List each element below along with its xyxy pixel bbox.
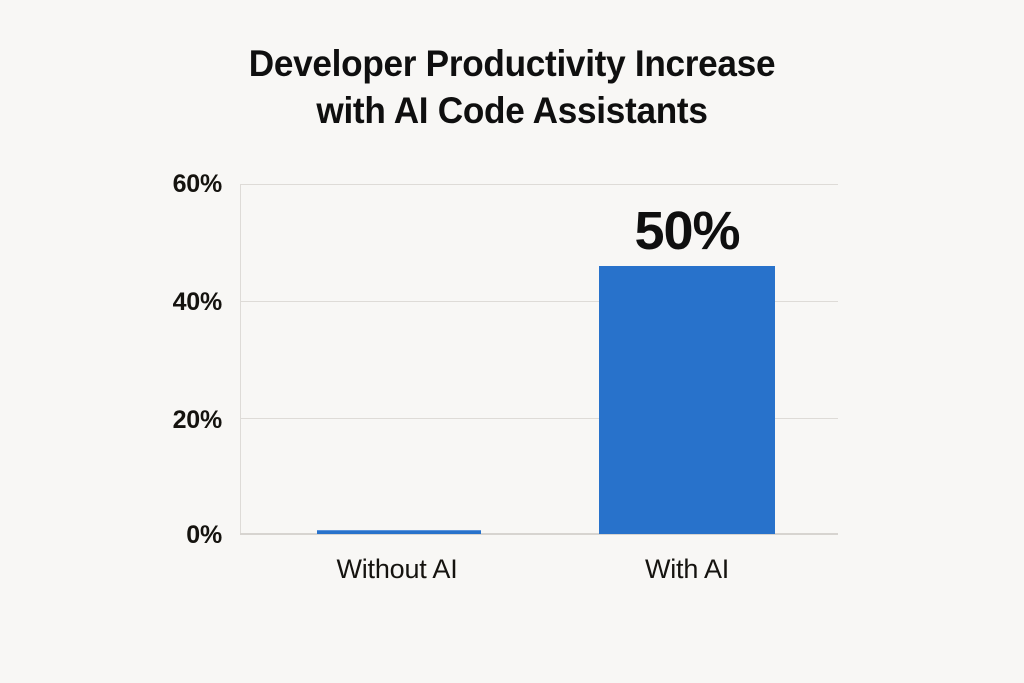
x-tick-label-without-ai: Without AI bbox=[297, 553, 497, 585]
bar-with-ai[interactable] bbox=[599, 266, 775, 534]
bar-without-ai[interactable] bbox=[317, 530, 481, 534]
bar-value-label-with-ai: 50% bbox=[597, 204, 777, 258]
gridline-60 bbox=[240, 184, 838, 185]
chart-title: Developer Productivity Increase with AI … bbox=[26, 40, 999, 134]
y-tick-label-60: 60% bbox=[62, 172, 222, 197]
y-tick-label-40: 40% bbox=[62, 290, 222, 315]
y-tick-label-0: 0% bbox=[62, 523, 222, 548]
chart-title-line-2: with AI Code Assistants bbox=[26, 87, 999, 134]
y-tick-label-20: 20% bbox=[62, 408, 222, 433]
chart-title-line-1: Developer Productivity Increase bbox=[26, 40, 999, 87]
x-tick-label-with-ai: With AI bbox=[587, 553, 787, 585]
chart-figure: Developer Productivity Increase with AI … bbox=[0, 0, 1024, 683]
